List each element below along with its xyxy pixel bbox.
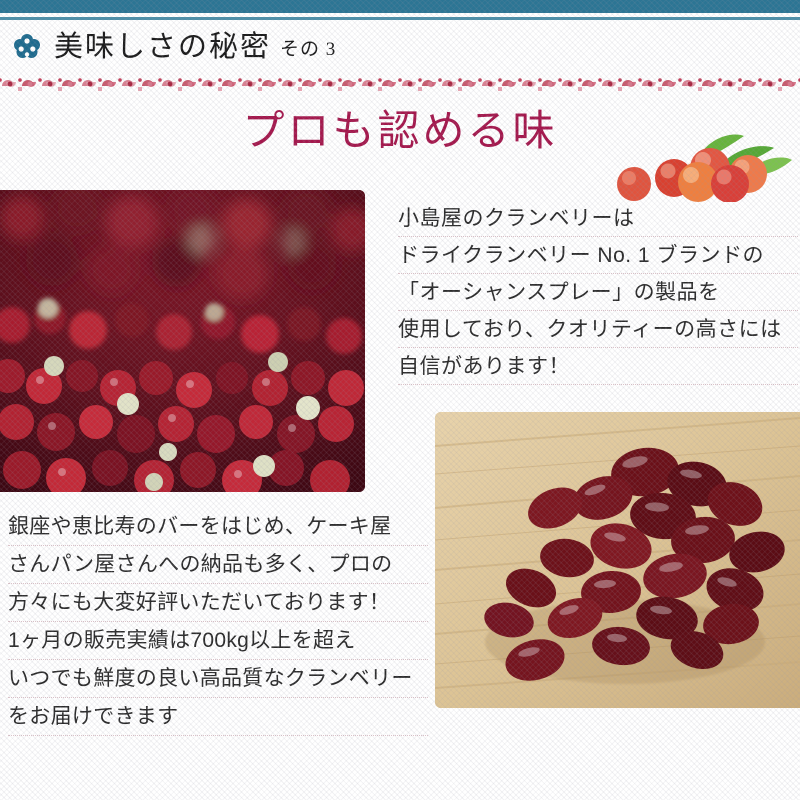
text-line: さんパン屋さんへの納品も多く、プロの (8, 546, 428, 584)
page-title: 美味しさの秘密 (54, 33, 271, 62)
text-line: ドライクランベリー No. 1 ブランドの (398, 237, 798, 274)
header-subtitle: その 3 (280, 34, 336, 61)
text-line: 「オーシャンスプレー」の製品を (398, 274, 798, 311)
fresh-cranberries-photo (0, 190, 365, 492)
top-band-thick (0, 0, 800, 13)
text-line: 銀座や恵比寿のバーをはじめ、ケーキ屋 (8, 508, 428, 546)
body-text-bottom: 銀座や恵比寿のバーをはじめ、ケーキ屋 さんパン屋さんへの納品も多く、プロの 方々… (8, 508, 428, 736)
text-line: 小島屋のクランベリーは (398, 200, 798, 237)
text-line: 使用しており、クオリティーの高さには (398, 311, 798, 348)
top-decorative-bands (0, 0, 800, 20)
decorative-pattern-band (0, 72, 800, 96)
text-line: いつでも鮮度の良い高品質なクランベリー (8, 660, 428, 698)
text-line: 方々にも大変好評いただいております！ (8, 584, 428, 622)
cranberry-sprig-illustration (606, 126, 796, 202)
top-band-thin (0, 17, 800, 20)
flower-crest-icon (12, 32, 42, 62)
dried-cranberries-photo (435, 412, 800, 708)
body-text-right: 小島屋のクランベリーは ドライクランベリー No. 1 ブランドの 「オーシャン… (398, 200, 798, 385)
text-line: をお届けできます (8, 698, 428, 736)
section-header: 美味しさの秘密 その 3 (0, 24, 800, 70)
text-line: 自信があります！ (398, 348, 798, 385)
text-line: 1ヶ月の販売実績は700kg以上を超え (8, 622, 428, 660)
